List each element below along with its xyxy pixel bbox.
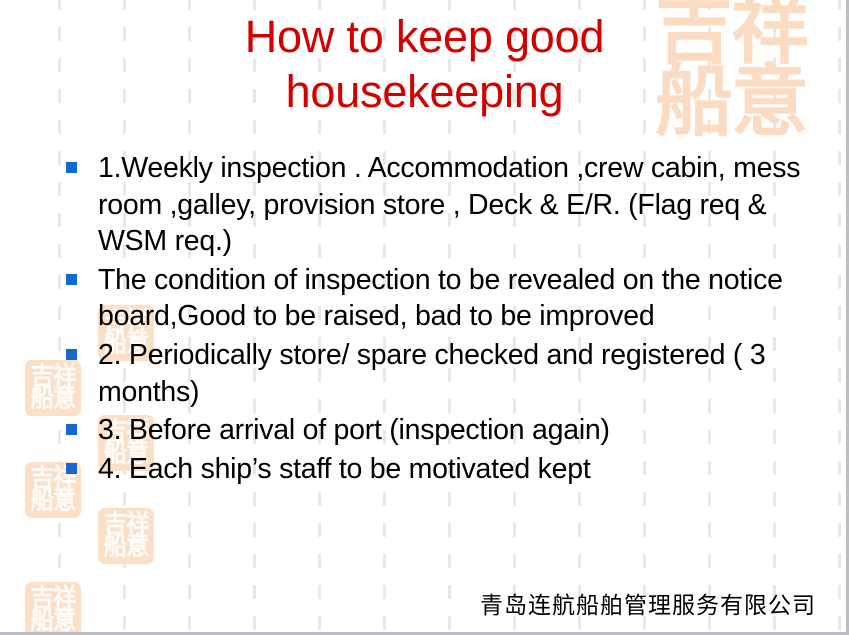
bullet-item: 1.Weekly inspection . Accommodation ,cre… bbox=[58, 150, 833, 260]
bullet-item-text: The condition of inspection to be reveal… bbox=[98, 262, 833, 335]
square-bullet-icon bbox=[66, 424, 77, 435]
bullet-item: 2. Periodically store/ spare checked and… bbox=[58, 337, 833, 410]
seal-stamp-glyphs: 吉祥船意 bbox=[25, 588, 81, 631]
seal-stamp-watermark: 吉祥船意 bbox=[98, 508, 154, 564]
square-bullet-icon bbox=[66, 463, 77, 474]
slide-title: How to keep good housekeeping bbox=[0, 10, 849, 120]
square-bullet-icon bbox=[66, 162, 77, 173]
bullet-item: 4. Each ship’s staff to be motivated kep… bbox=[58, 451, 833, 488]
bullet-list: 1.Weekly inspection . Accommodation ,cre… bbox=[58, 150, 833, 489]
bullet-item-text: 3. Before arrival of port (inspection ag… bbox=[98, 412, 833, 449]
bullet-item-text: 1.Weekly inspection . Accommodation ,cre… bbox=[98, 150, 833, 260]
bullet-item: The condition of inspection to be reveal… bbox=[58, 262, 833, 335]
bullet-item: 3. Before arrival of port (inspection ag… bbox=[58, 412, 833, 449]
slide-title-line-2: housekeeping bbox=[0, 65, 849, 120]
seal-stamp-watermark: 吉祥船意 bbox=[25, 582, 81, 635]
bullet-item-text: 4. Each ship’s staff to be motivated kep… bbox=[98, 451, 833, 488]
square-bullet-icon bbox=[66, 274, 77, 285]
slide-title-line-1: How to keep good bbox=[0, 10, 849, 65]
bullet-item-text: 2. Periodically store/ spare checked and… bbox=[98, 337, 833, 410]
seal-stamp-glyphs: 吉祥船意 bbox=[98, 514, 154, 557]
slide-canvas: 吉祥船意 吉祥船意 吉祥船意 吉祥船意 吉祥船意 吉祥船意 吉祥船意 How t… bbox=[0, 0, 849, 635]
square-bullet-icon bbox=[66, 349, 77, 360]
footer-company-name: 青岛连航船舶管理服务有限公司 bbox=[480, 586, 816, 620]
